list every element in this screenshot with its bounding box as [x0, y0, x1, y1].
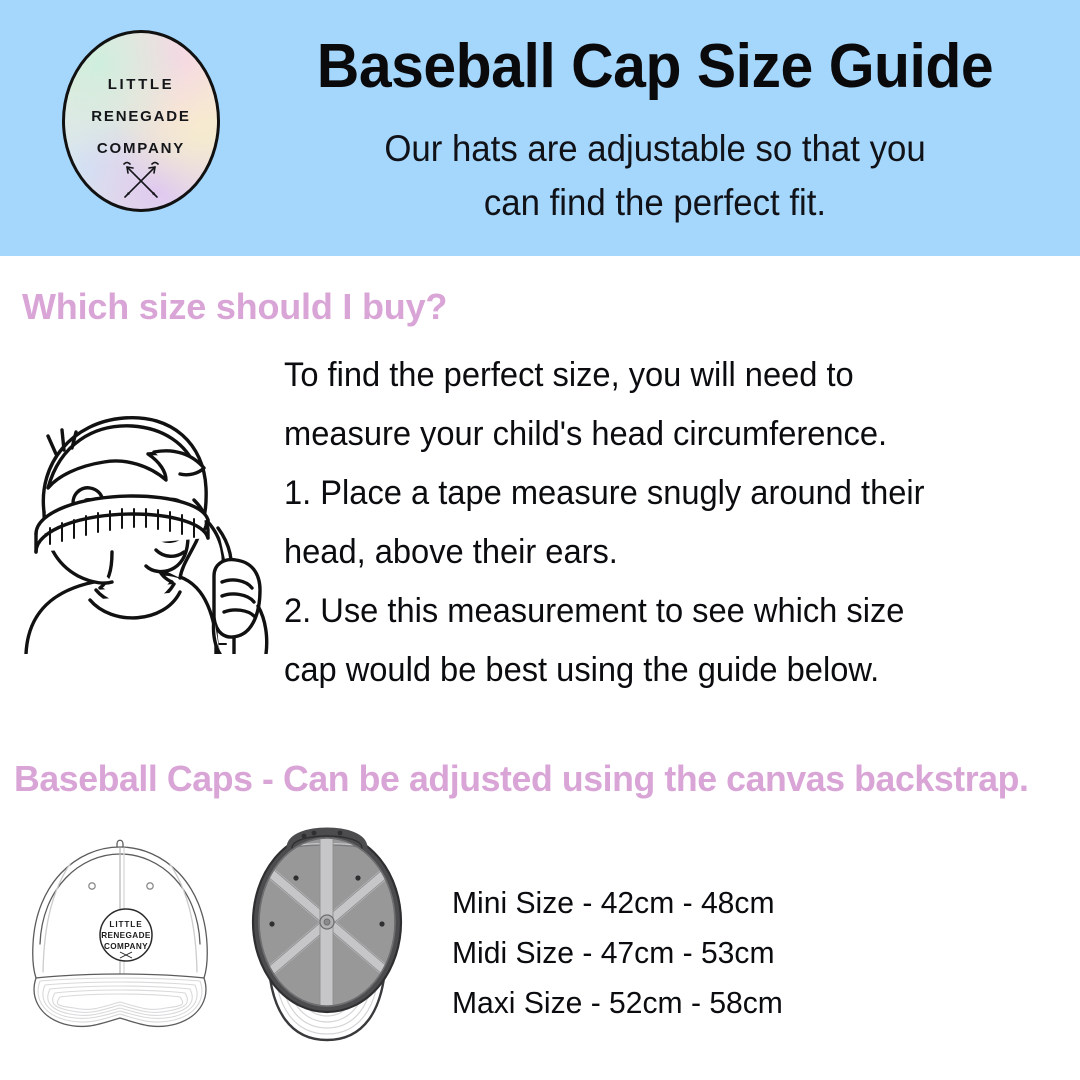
page-header: LITTLE RENEGADE COMPANY Baseball Cap Siz [0, 0, 1080, 256]
size-guide-page: LITTLE RENEGADE COMPANY Baseball Cap Siz [0, 0, 1080, 1080]
instruction-line-6: cap would be best using the guide below. [284, 641, 1042, 700]
logo-line-1: LITTLE [65, 77, 217, 92]
page-subtitle: Our hats are adjustable so that you can … [274, 122, 1035, 229]
instruction-line-1: To find the perfect size, you will need … [284, 346, 1042, 405]
head-measure-illustration [8, 392, 276, 654]
page-subtitle-line-1: Our hats are adjustable so that you [274, 122, 1035, 176]
cap-patch-line-3: COMPANY [104, 942, 148, 951]
instruction-line-3: 1. Place a tape measure snugly around th… [284, 464, 1042, 523]
measure-instructions: To find the perfect size, you will need … [284, 346, 1042, 700]
cap-patch-line-1: LITTLE [109, 920, 142, 929]
page-subtitle-line-2: can find the perfect fit. [274, 176, 1035, 230]
instruction-line-2: measure your child's head circumference. [284, 405, 1042, 464]
cap-patch-line-2: RENEGADE [101, 931, 151, 940]
size-row-midi: Midi Size - 47cm - 53cm [452, 928, 783, 978]
section-heading-baseball-caps: Baseball Caps - Can be adjusted using th… [14, 758, 1029, 800]
size-chart-list: Mini Size - 42cm - 48cm Midi Size - 47cm… [452, 878, 783, 1028]
crossed-arrows-icon [119, 161, 163, 201]
size-row-mini: Mini Size - 42cm - 48cm [452, 878, 783, 928]
cap-interior-view-illustration [228, 818, 426, 1042]
logo-line-2: RENEGADE [65, 109, 217, 124]
logo-circle-badge: LITTLE RENEGADE COMPANY [62, 30, 220, 212]
cap-front-view-illustration: LITTLE RENEGADE COMPANY [14, 828, 226, 1040]
logo-line-3: COMPANY [65, 141, 217, 156]
brand-logo: LITTLE RENEGADE COMPANY [62, 30, 220, 212]
instruction-line-4: head, above their ears. [284, 523, 1042, 582]
instruction-line-5: 2. Use this measurement to see which siz… [284, 582, 1042, 641]
size-row-maxi: Maxi Size - 52cm - 58cm [452, 978, 783, 1028]
section-heading-which-size: Which size should I buy? [22, 286, 447, 328]
page-title: Baseball Cap Size Guide [270, 34, 1040, 99]
